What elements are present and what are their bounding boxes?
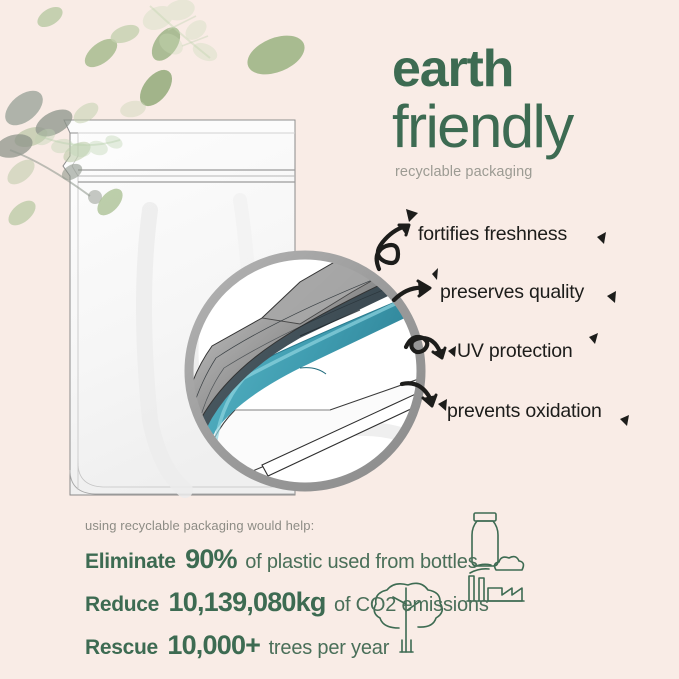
stat-verb: Reduce xyxy=(85,593,159,616)
stat-verb: Rescue xyxy=(85,636,158,659)
feature-label-preserves-quality: preserves quality xyxy=(440,281,584,304)
stat-verb: Eliminate xyxy=(85,550,176,573)
stat-description: of plastic used from bottles xyxy=(245,551,477,573)
stats-intro-text: using recyclable packaging would help: xyxy=(85,518,314,533)
stat-number: 90% xyxy=(185,544,237,574)
feature-label-uv-protection: UV protection xyxy=(457,340,573,363)
subtitle: recyclable packaging xyxy=(395,164,674,180)
stat-number: 10,000+ xyxy=(167,630,260,660)
feature-label-fortifies-freshness: fortifies freshness xyxy=(418,223,567,246)
stat-row-rescue: Rescue 10,000+ trees per year xyxy=(85,630,389,661)
stat-description: of CO2 emissions xyxy=(334,594,489,616)
page-title: earth friendly recyclable packaging xyxy=(392,44,674,180)
feature-label-prevents-oxidation: prevents oxidation xyxy=(447,400,602,423)
title-line-earth: earth xyxy=(392,44,674,95)
stat-row-eliminate: Eliminate 90% of plastic used from bottl… xyxy=(85,544,478,575)
stat-description: trees per year xyxy=(269,637,390,659)
stat-row-reduce: Reduce 10,139,080kg of CO2 emissions xyxy=(85,587,489,618)
stat-number: 10,139,080kg xyxy=(169,587,326,617)
title-line-friendly: friendly xyxy=(392,97,674,157)
infographic-canvas: earth friendly recyclable packaging fort… xyxy=(0,0,679,679)
